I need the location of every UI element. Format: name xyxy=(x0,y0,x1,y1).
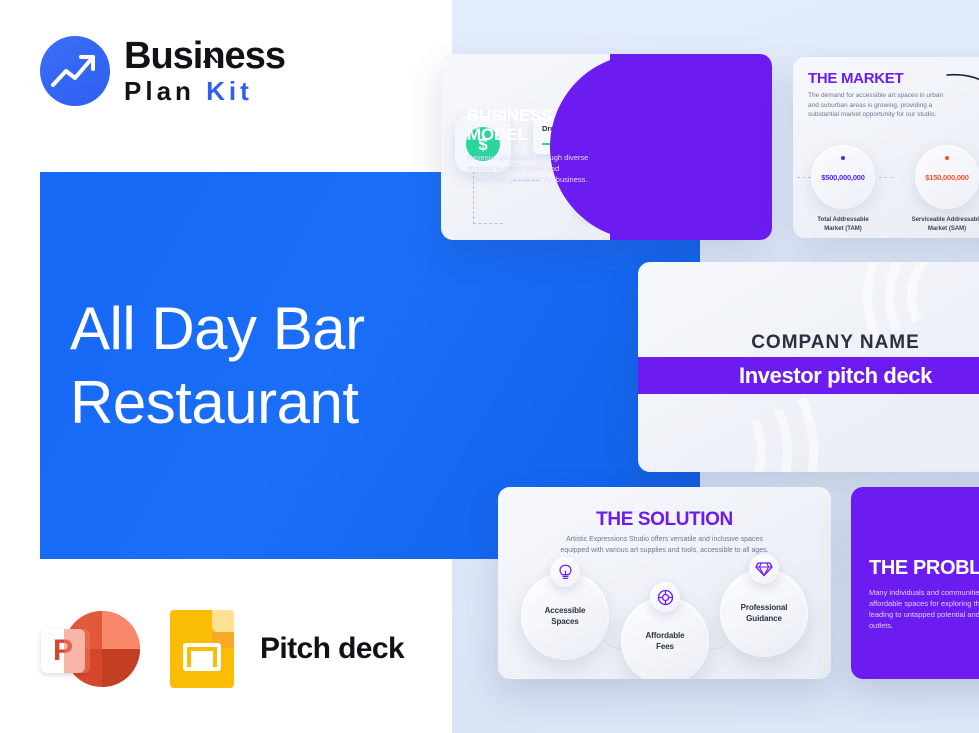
hero-title: All Day Bar Restaurant xyxy=(70,292,365,440)
logo-wordmark: Business Plan Kit xyxy=(124,36,285,106)
solution-title: THE SOLUTION xyxy=(498,509,831,531)
metric-link-left xyxy=(797,177,811,178)
caret-accent-icon xyxy=(203,31,218,41)
metric-dot-icon xyxy=(841,156,845,160)
brand-logo: Business Plan Kit xyxy=(40,36,285,106)
metric-circle: $150,000,000 xyxy=(915,145,979,209)
slide-the-solution[interactable]: THE SOLUTION Artistic Expressions Studio… xyxy=(498,487,831,679)
market-description: The demand for accessible art spaces in … xyxy=(808,91,944,120)
logo-line-plan-kit: Plan Kit xyxy=(124,76,285,106)
metric-caption: Serviceable Addressable Market (SAM) xyxy=(907,216,979,233)
slide-the-market[interactable]: THE MARKET The demand for accessible art… xyxy=(793,57,979,238)
format-badges-label: Pitch deck xyxy=(260,632,404,666)
solution-node-label: Professional Guidance xyxy=(741,602,788,624)
format-badges: P Pitch deck xyxy=(36,608,404,690)
solution-node-affordable-fees[interactable]: Affordable Fees xyxy=(621,597,709,679)
logo-plan-text: Plan xyxy=(124,76,195,106)
investor-pitch-deck-band: Investor pitch deck xyxy=(638,357,979,394)
metric-value: $500,000,000 xyxy=(821,173,864,182)
solution-bubble: Professional Guidance xyxy=(720,569,808,657)
slides-frame xyxy=(183,643,221,671)
logo-line-business: Business xyxy=(124,36,285,76)
powerpoint-icon: P xyxy=(36,608,134,690)
market-title: THE MARKET xyxy=(808,70,903,87)
slide-the-problem[interactable]: THE PROBLEM Many individuals and communi… xyxy=(851,487,979,679)
solution-node-label: Affordable Fees xyxy=(645,630,684,652)
metric-circle: $500,000,000 xyxy=(811,145,875,209)
diamond-icon xyxy=(749,554,779,584)
investor-pitch-deck-label: Investor pitch deck xyxy=(739,363,932,389)
market-metric-tam[interactable]: $500,000,000 Total Addressable Market (T… xyxy=(811,145,883,233)
solution-node-label: Accessible Spaces xyxy=(545,605,586,627)
slide-business-model[interactable]: $ Drop-in Fees Session Workshops Commiss… xyxy=(441,54,772,240)
trend-up-arrow-icon xyxy=(40,36,110,106)
problem-description: Many individuals and communities lack ac… xyxy=(869,587,979,631)
powerpoint-tile-overlay xyxy=(64,629,90,673)
slide-company-name[interactable]: COMPANY NAME Investor pitch deck xyxy=(638,262,979,472)
google-slides-icon xyxy=(170,610,234,688)
business-model-heading: BUSINESS MODEL xyxy=(467,106,597,144)
solution-node-accessible-spaces[interactable]: Accessible Spaces xyxy=(521,572,609,660)
business-model-description: Revenue generation through diverse strea… xyxy=(467,152,589,185)
company-name-title: COMPANY NAME xyxy=(638,332,979,354)
logo-kit-text: Kit xyxy=(206,76,253,106)
metric-dot-icon xyxy=(945,156,949,160)
solution-bubble: Affordable Fees xyxy=(621,597,709,679)
problem-title: THE PROBLEM xyxy=(869,557,979,580)
solution-node-professional-guidance[interactable]: Professional Guidance xyxy=(720,569,808,657)
curved-arrow-icon xyxy=(945,71,979,116)
target-icon xyxy=(650,582,680,612)
solution-bubble: Accessible Spaces xyxy=(521,572,609,660)
lightbulb-icon xyxy=(550,557,580,587)
market-metric-sam[interactable]: $150,000,000 Serviceable Addressable Mar… xyxy=(915,145,979,233)
slides-fold xyxy=(212,610,234,632)
solution-description: Artistic Expressions Studio offers versa… xyxy=(558,535,771,556)
business-model-purple-panel xyxy=(610,54,772,240)
metric-caption: Total Addressable Market (TAM) xyxy=(803,216,883,233)
connector-to-item-3 xyxy=(473,223,503,224)
metric-value: $150,000,000 xyxy=(925,173,968,182)
